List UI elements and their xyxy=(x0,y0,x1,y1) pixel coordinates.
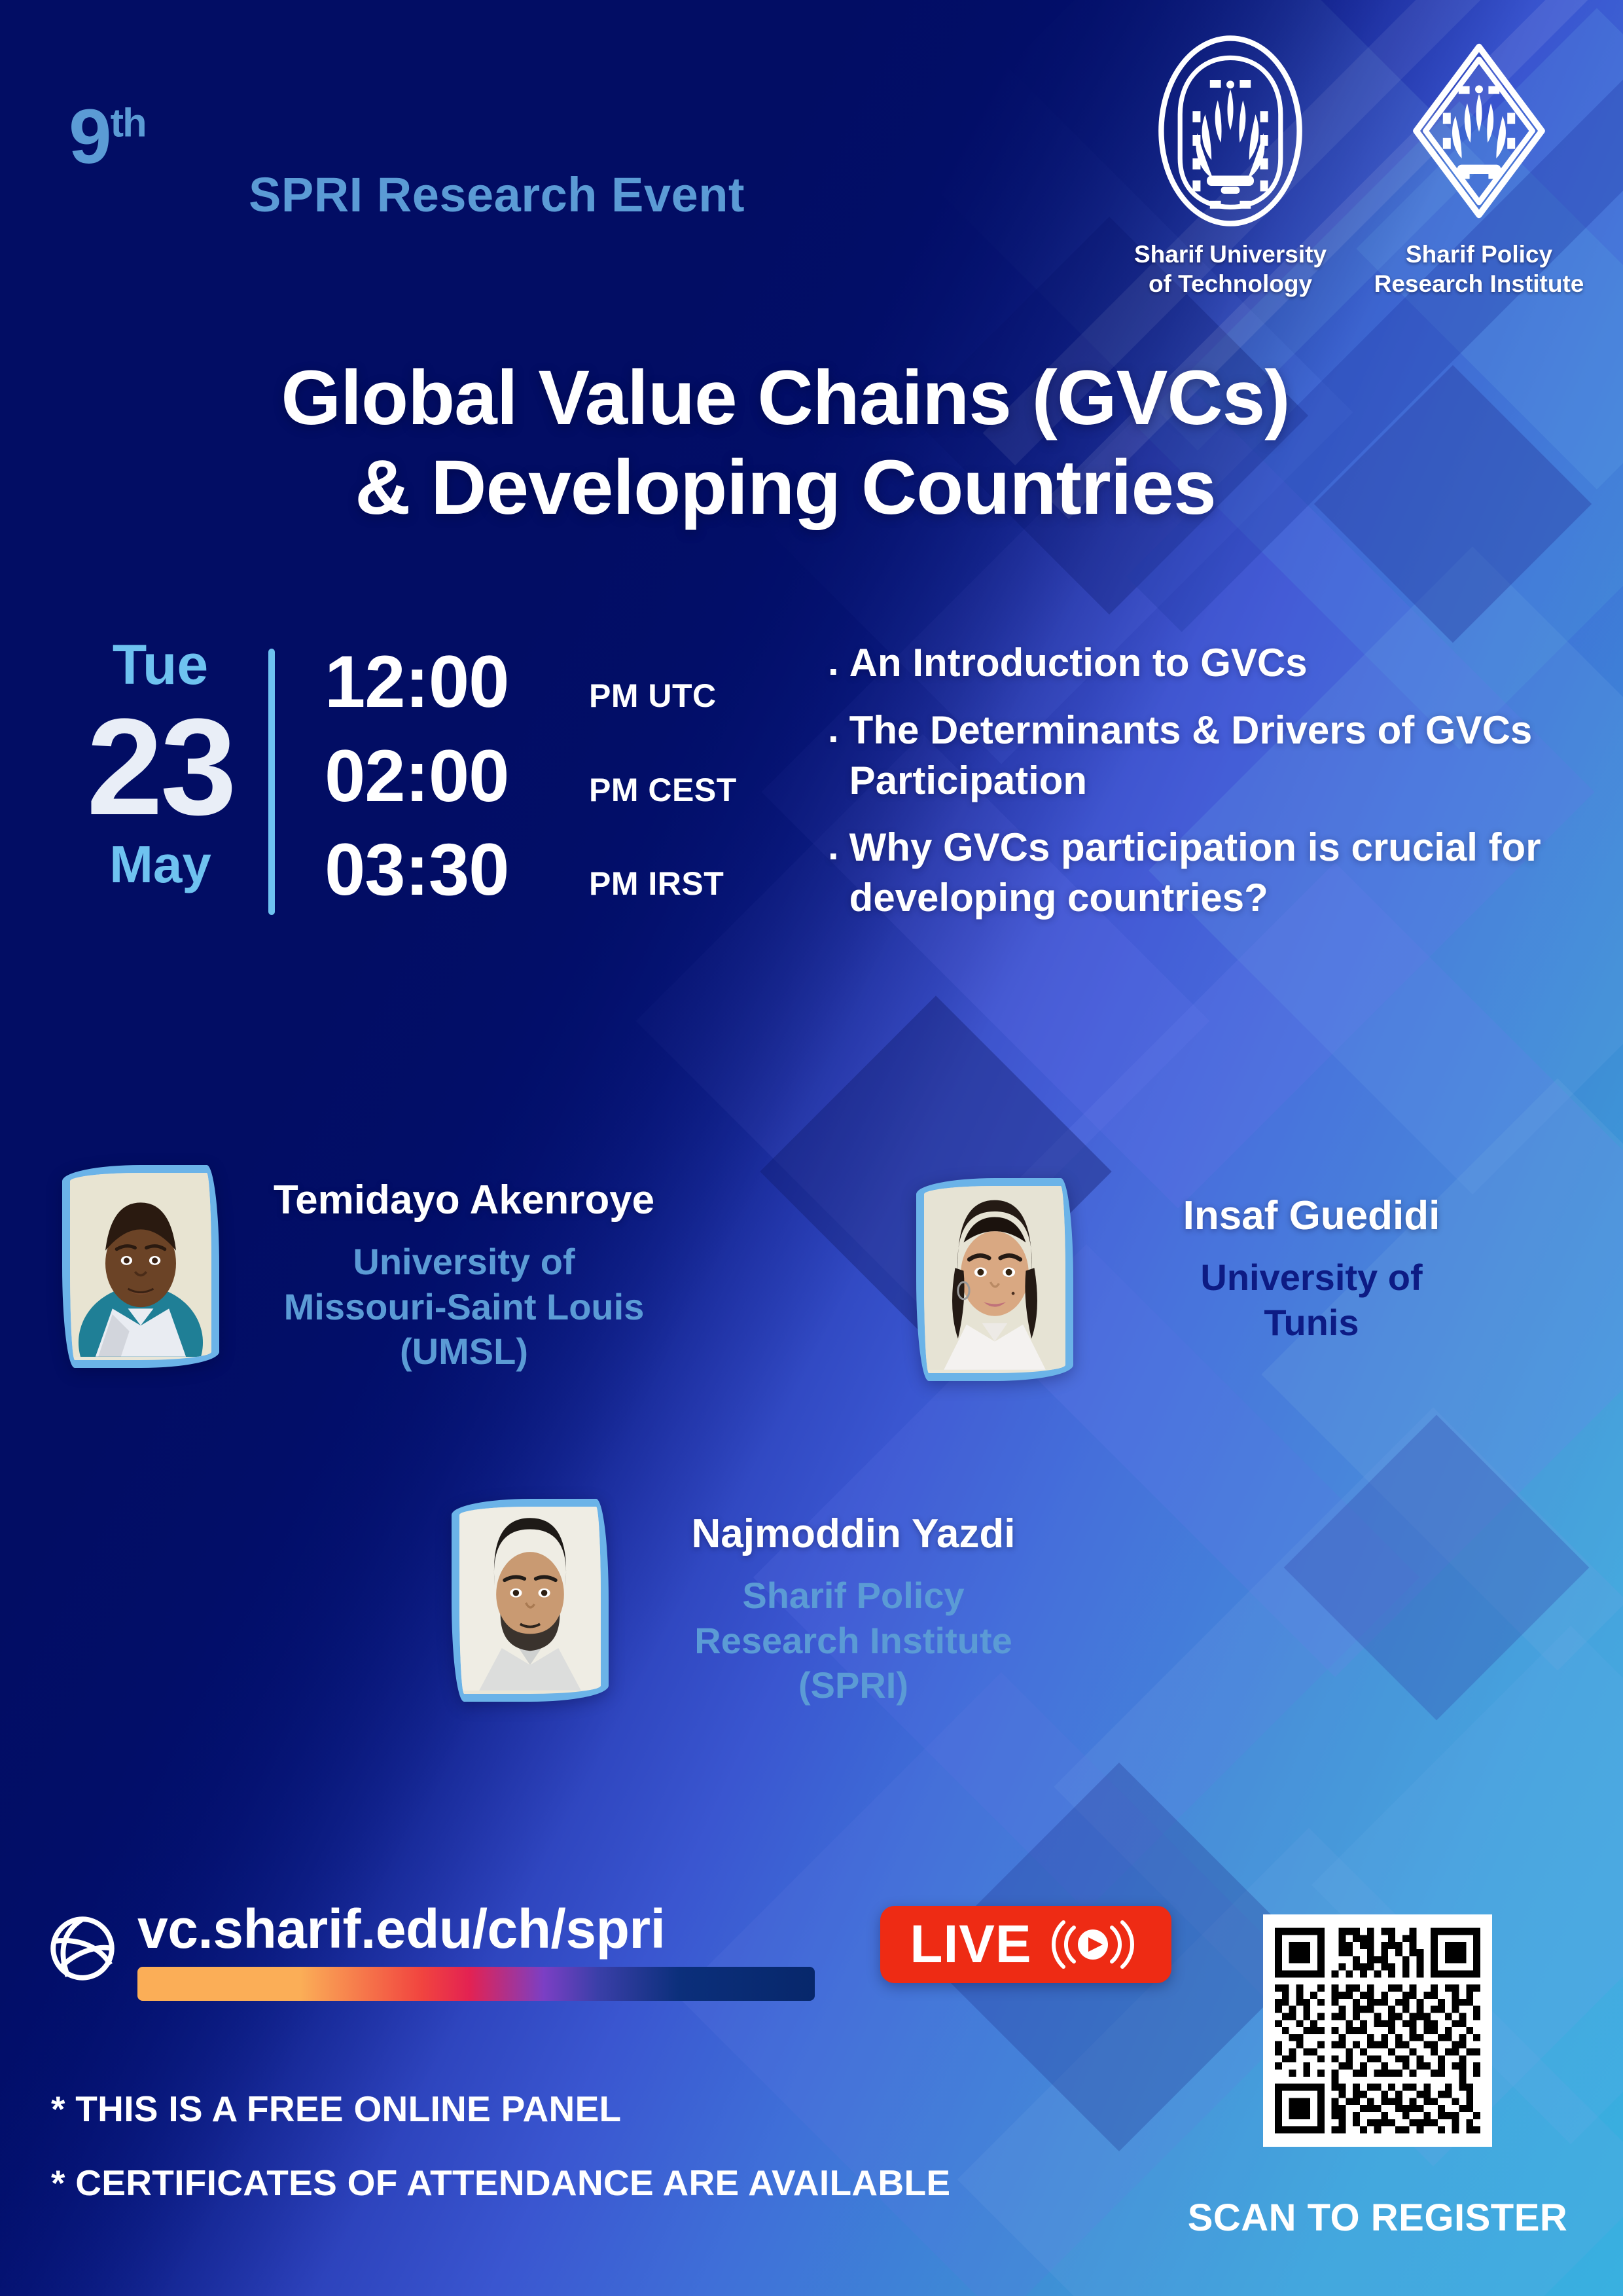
bullet-dot-icon: . xyxy=(828,637,839,687)
date-block: Tue 23 May xyxy=(52,632,268,925)
agenda-list: . An Introduction to GVCs . The Determin… xyxy=(828,638,1600,941)
link-underline-gradient xyxy=(137,1967,815,2001)
time-row: 12:00 PM UTC xyxy=(325,643,737,721)
event-link[interactable]: vc.sharif.edu/ch/spri xyxy=(137,1901,815,2001)
live-badge: LIVE xyxy=(880,1906,1171,1983)
time-value: 02:00 xyxy=(325,738,580,815)
logo-caption-line-1: Sharif Policy xyxy=(1371,240,1587,269)
footer-note: * THIS IS A FREE ONLINE PANEL xyxy=(51,2091,950,2127)
agenda-item-label: Why GVCs participation is crucial for de… xyxy=(849,823,1600,924)
speaker-info: Temidayo Akenroye University of Missouri… xyxy=(235,1165,693,1374)
speaker-affiliation: University of Tunis xyxy=(1089,1255,1534,1345)
bullet-dot-icon: . xyxy=(828,821,839,872)
date-month: May xyxy=(52,838,268,891)
speaker-photo xyxy=(70,1173,211,1357)
speaker-photo-frame xyxy=(62,1165,219,1368)
date-time-block: Tue 23 May 12:00 PM UTC 02:00 PM CEST 03… xyxy=(52,632,737,925)
footer-notes: * THIS IS A FREE ONLINE PANEL * CERTIFIC… xyxy=(51,2091,950,2239)
event-series-label: SPRI Research Event xyxy=(249,167,745,223)
speaker-name: Insaf Guedidi xyxy=(1089,1194,1534,1238)
speaker-name: Najmoddin Yazdi xyxy=(624,1512,1082,1556)
speaker-card: Temidayo Akenroye University of Missouri… xyxy=(62,1165,693,1374)
agenda-item: . An Introduction to GVCs xyxy=(828,638,1600,689)
agenda-item-label: An Introduction to GVCs xyxy=(849,638,1308,689)
speaker-info: Insaf Guedidi University of Tunis xyxy=(1089,1178,1534,1345)
spri-logo-block: Sharif Policy Research Institute xyxy=(1371,33,1587,298)
date-day-number: 23 xyxy=(52,697,268,837)
time-list: 12:00 PM UTC 02:00 PM CEST 03:30 PM IRST xyxy=(275,632,737,925)
time-value: 12:00 xyxy=(325,643,580,721)
broadcast-play-icon xyxy=(1044,1917,1142,1972)
speaker-card: Insaf Guedidi University of Tunis xyxy=(916,1178,1534,1381)
logo-group: Sharif University of Technology xyxy=(1122,33,1587,298)
event-poster: 9th SPRI Research Event xyxy=(0,0,1623,2296)
time-row: 03:30 PM IRST xyxy=(325,831,737,908)
poster-title-line-2: & Developing Countries xyxy=(39,443,1531,533)
event-ordinal-number: 9 xyxy=(69,94,111,180)
avatar xyxy=(916,1178,1089,1381)
event-link-url[interactable]: vc.sharif.edu/ch/spri xyxy=(137,1901,815,1956)
event-ordinal-suffix: th xyxy=(111,101,146,146)
agenda-item-label: The Determinants & Drivers of GVCs Parti… xyxy=(849,706,1600,806)
event-link-block[interactable]: vc.sharif.edu/ch/spri xyxy=(46,1901,815,2001)
sharif-university-logo-caption: Sharif University of Technology xyxy=(1122,240,1338,298)
speaker-photo-frame xyxy=(452,1499,609,1702)
globe-icon xyxy=(46,1912,119,1985)
event-ordinal: 9th xyxy=(69,98,146,175)
qr-code[interactable] xyxy=(1263,1914,1492,2147)
logo-caption-line-1: Sharif University xyxy=(1122,240,1338,269)
logo-caption-line-2: of Technology xyxy=(1122,269,1338,298)
time-value: 03:30 xyxy=(325,831,580,908)
speaker-photo-frame xyxy=(916,1178,1073,1381)
time-zone: PM CEST xyxy=(589,771,737,809)
speaker-info: Najmoddin Yazdi Sharif Policy Research I… xyxy=(624,1499,1082,1708)
agenda-item: . Why GVCs participation is crucial for … xyxy=(828,823,1600,924)
vertical-divider xyxy=(268,649,275,915)
scan-to-register-label: SCAN TO REGISTER xyxy=(1158,2196,1597,2240)
logo-caption-line-2: Research Institute xyxy=(1371,269,1587,298)
poster-title: Global Value Chains (GVCs) & Developing … xyxy=(0,353,1623,533)
spri-logo-caption: Sharif Policy Research Institute xyxy=(1371,240,1587,298)
live-badge-label: LIVE xyxy=(910,1918,1031,1971)
sharif-university-logo-block: Sharif University of Technology xyxy=(1122,33,1338,298)
speaker-photo xyxy=(459,1507,601,1691)
bullet-dot-icon: . xyxy=(828,704,839,755)
time-row: 02:00 PM CEST xyxy=(325,738,737,815)
avatar xyxy=(452,1499,624,1702)
agenda-item: . The Determinants & Drivers of GVCs Par… xyxy=(828,706,1600,806)
qr-code-icon xyxy=(1275,1926,1480,2135)
speaker-name: Temidayo Akenroye xyxy=(235,1178,693,1223)
speaker-card: Najmoddin Yazdi Sharif Policy Research I… xyxy=(452,1499,1082,1708)
sharif-university-logo-icon xyxy=(1149,33,1312,229)
spri-logo-icon xyxy=(1397,33,1561,229)
time-zone: PM IRST xyxy=(589,865,724,903)
speaker-photo xyxy=(924,1186,1065,1370)
speaker-affiliation: Sharif Policy Research Institute (SPRI) xyxy=(624,1573,1082,1708)
footer-note: * CERTIFICATES OF ATTENDANCE ARE AVAILAB… xyxy=(51,2165,950,2201)
time-zone: PM UTC xyxy=(589,677,717,715)
speaker-affiliation: University of Missouri-Saint Louis (UMSL… xyxy=(235,1240,693,1374)
avatar xyxy=(62,1165,235,1368)
date-day-of-week: Tue xyxy=(52,637,268,693)
poster-title-line-1: Global Value Chains (GVCs) xyxy=(39,353,1531,443)
